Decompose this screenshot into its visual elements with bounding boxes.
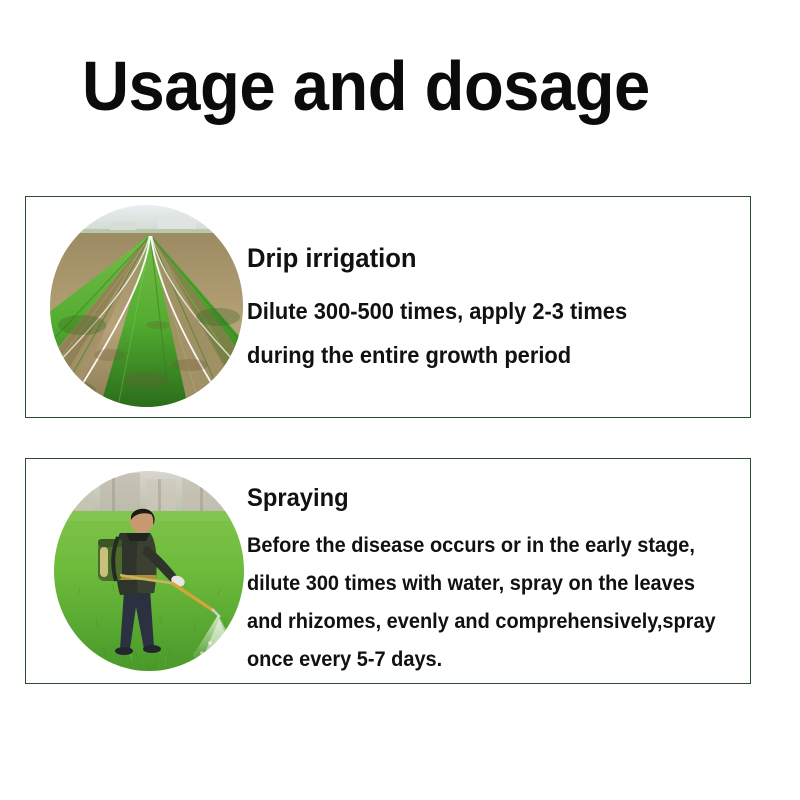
card-body-drip-irrigation: Dilute 300-500 times, apply 2-3 times du… [247, 289, 647, 377]
card-body-line: once every 5-7 days. [247, 641, 716, 679]
card-inner: Spraying Before the disease occurs or in… [26, 459, 750, 683]
card-inner: Drip irrigation Dilute 300-500 times, ap… [26, 197, 750, 417]
card-body-line: Dilute 300-500 times, apply 2-3 times [247, 289, 627, 333]
card-body-line: and rhizomes, evenly and comprehensively… [247, 603, 716, 641]
card-body-spraying: Before the disease occurs or in the earl… [247, 527, 740, 679]
card-body-line: dilute 300 times with water, spray on th… [247, 565, 716, 603]
card-body-line: Before the disease occurs or in the earl… [247, 527, 716, 565]
usage-and-dosage-page: Usage and dosage [0, 0, 800, 800]
drip-irrigation-field-photo [50, 205, 243, 407]
usage-card-spraying: Spraying Before the disease occurs or in… [25, 458, 751, 684]
card-heading-drip-irrigation: Drip irrigation [247, 243, 417, 273]
card-body-line: during the entire growth period [247, 333, 627, 377]
usage-card-drip-irrigation: Drip irrigation Dilute 300-500 times, ap… [25, 196, 751, 418]
backpack-sprayer-photo [54, 471, 244, 671]
spraying-text-column: Spraying Before the disease occurs or in… [247, 459, 746, 683]
card-heading-spraying: Spraying [247, 484, 349, 512]
page-title: Usage and dosage [82, 48, 650, 124]
drip-irrigation-text-column: Drip irrigation Dilute 300-500 times, ap… [247, 197, 742, 417]
